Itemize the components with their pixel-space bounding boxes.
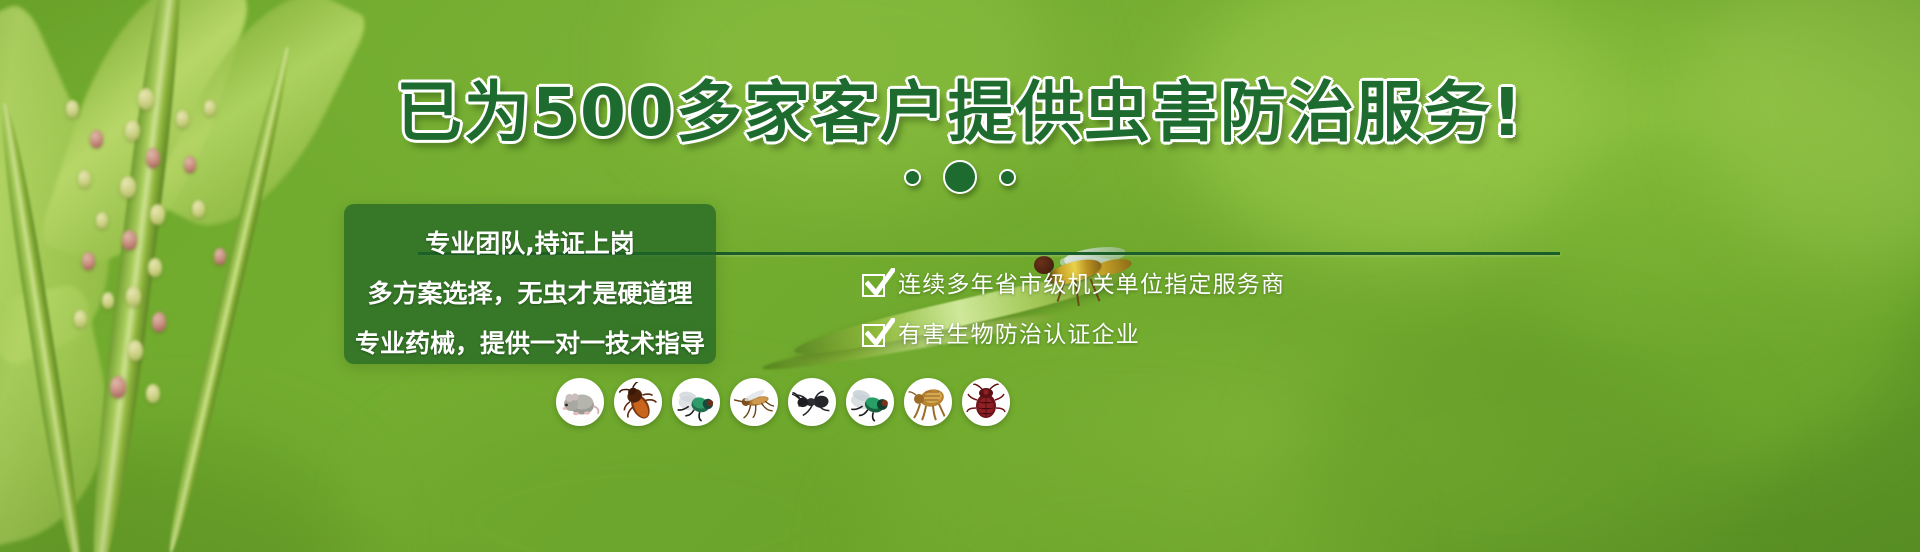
greenfly-icon[interactable] [846,378,894,426]
bedbug-icon[interactable] [962,378,1010,426]
checkbox-checked-icon [862,274,885,297]
checkbox-checked-icon [862,324,885,347]
dot-small [999,169,1016,186]
housefly-icon[interactable] [672,378,720,426]
credential-item: 连续多年省市级机关单位指定服务商 [862,272,1502,298]
ant-icon[interactable] [788,378,836,426]
credential-item: 有害生物防治认证企业 [862,322,1502,348]
selling-point-line-3: 专业药械，提供一对一技术指导 [344,326,716,362]
page-title: 已为500多家客户提供虫害防治服务! [0,76,1920,150]
selling-point-line-2: 多方案选择，无虫才是硬道理 [344,276,716,312]
credential-label: 连续多年省市级机关单位指定服务商 [898,272,1285,298]
promo-banner: 已为500多家客户提供虫害防治服务! 专业团队,持证上岗 多方案选择，无虫才是硬… [0,0,1920,552]
flea-icon[interactable] [904,378,952,426]
pest-types-row [556,378,1010,426]
dot-small [904,169,921,186]
selling-point-line-1: 专业团队,持证上岗 [344,226,716,262]
dot-large [943,160,977,194]
decorative-dots [0,160,1920,194]
rodent-icon[interactable] [556,378,604,426]
selling-points-panel: 专业团队,持证上岗 多方案选择，无虫才是硬道理 专业药械，提供一对一技术指导 [344,204,716,364]
cockroach-icon[interactable] [614,378,662,426]
credentials-list: 连续多年省市级机关单位指定服务商有害生物防治认证企业 [862,272,1502,372]
credential-label: 有害生物防治认证企业 [898,322,1140,348]
mosquito-icon[interactable] [730,378,778,426]
